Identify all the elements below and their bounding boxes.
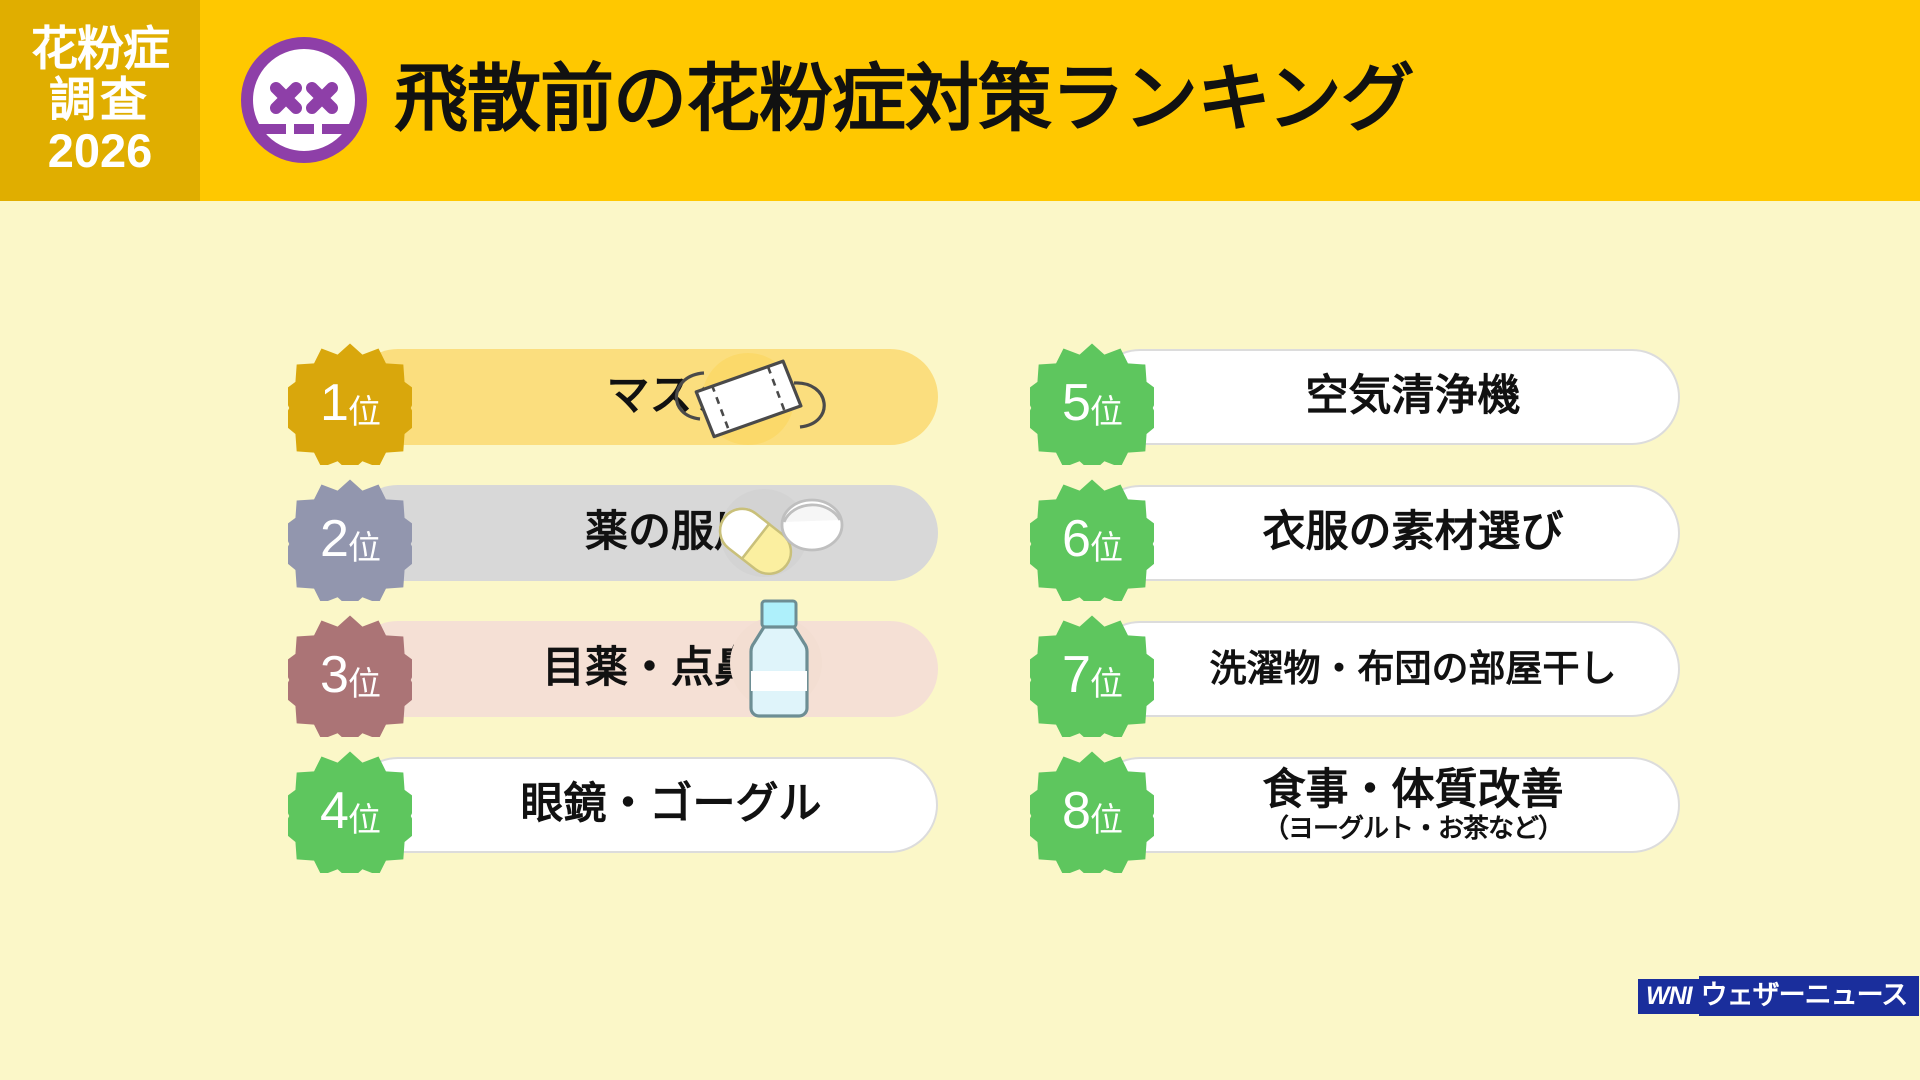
rank-badge-2: 2位	[288, 477, 412, 601]
rank-suffix-1: 位	[348, 373, 380, 433]
rank-label-7: 洗濯物・布団の部屋干し	[1094, 650, 1678, 688]
rank-pill-8[interactable]: 食事・体質改善 （ヨーグルト・お茶など）	[1092, 757, 1680, 853]
wni-logo-mark: WNI	[1638, 979, 1699, 1014]
rank-badge-7: 7位	[1030, 613, 1154, 737]
rank-title-1: マスク	[607, 375, 736, 419]
rank-label-8: 食事・体質改善 （ヨーグルト・お茶など）	[1094, 769, 1678, 841]
rank-suffix-3: 位	[348, 645, 380, 705]
rank-label-3: 目薬・点鼻薬	[350, 647, 938, 691]
rank-number-5: 5	[1062, 373, 1090, 433]
rank-pill-5[interactable]: 空気清浄機	[1092, 349, 1680, 445]
rank-badge-8: 8位	[1030, 749, 1154, 873]
rank-badge-6: 6位	[1030, 477, 1154, 601]
rank-badge-3: 3位	[288, 613, 412, 737]
page-header: 花粉症 調査 2026 飛散前の花粉症対策ランキング	[0, 0, 1920, 201]
rank-suffix-7: 位	[1090, 645, 1122, 705]
rank-pill-6[interactable]: 衣服の素材選び	[1092, 485, 1680, 581]
rank-suffix-6: 位	[1090, 509, 1122, 569]
rank-title-2: 薬の服用	[585, 511, 757, 555]
rank-badge-text-2: 2位	[288, 477, 412, 601]
survey-badge-line1: 花粉症	[31, 24, 169, 75]
rank-badge-text-6: 6位	[1030, 477, 1154, 601]
rank-badge-text-5: 5位	[1030, 341, 1154, 465]
rank-title-8: 食事・体質改善	[1263, 769, 1564, 813]
ranking-board: マスク	[0, 201, 1920, 1080]
rank-title-6: 衣服の素材選び	[1263, 511, 1564, 555]
rank-pill-3[interactable]: 目薬・点鼻薬	[350, 621, 938, 717]
rank-pill-2[interactable]: 薬の服用	[350, 485, 938, 581]
rank-badge-1: 1位	[288, 341, 412, 465]
rank-badge-text-3: 3位	[288, 613, 412, 737]
rank-number-4: 4	[320, 781, 348, 841]
rank-number-3: 3	[320, 645, 348, 705]
rank-title-7: 洗濯物・布団の部屋干し	[1210, 650, 1617, 688]
rank-label-2: 薬の服用	[350, 511, 938, 555]
weathernews-logo: WNI ウェザーニュース	[1638, 974, 1919, 1018]
page-title: 飛散前の花粉症対策ランキング	[394, 31, 1414, 167]
rank-title-3: 目薬・点鼻薬	[542, 647, 800, 691]
rank-subtitle-8: （ヨーグルト・お茶など）	[1263, 815, 1563, 842]
weathernews-logo-text: ウェザーニュース	[1699, 976, 1920, 1016]
rank-title-4: 眼鏡・ゴーグル	[521, 783, 822, 827]
x-eyes-face-icon	[236, 32, 372, 168]
rank-number-2: 2	[320, 509, 348, 569]
rank-badge-4: 4位	[288, 749, 412, 873]
rank-badge-text-8: 8位	[1030, 749, 1154, 873]
rank-number-6: 6	[1062, 509, 1090, 569]
rank-suffix-2: 位	[348, 509, 380, 569]
rank-number-8: 8	[1062, 781, 1090, 841]
survey-badge-line2: 調査	[49, 75, 151, 126]
rank-label-1: マスク	[350, 375, 938, 419]
rank-label-6: 衣服の素材選び	[1094, 511, 1678, 555]
rank-number-7: 7	[1062, 645, 1090, 705]
rank-label-4: 眼鏡・ゴーグル	[352, 783, 936, 827]
rank-suffix-4: 位	[348, 781, 380, 841]
rank-title-5: 空気清浄機	[1306, 375, 1521, 419]
rank-pill-4[interactable]: 眼鏡・ゴーグル	[350, 757, 938, 853]
rank-badge-text-4: 4位	[288, 749, 412, 873]
rank-badge-5: 5位	[1030, 341, 1154, 465]
rank-badge-text-1: 1位	[288, 341, 412, 465]
rank-pill-7[interactable]: 洗濯物・布団の部屋干し	[1092, 621, 1680, 717]
survey-year-badge: 花粉症 調査 2026	[0, 0, 200, 201]
survey-badge-line3: 2026	[48, 126, 153, 177]
rank-number-1: 1	[320, 373, 348, 433]
rank-pill-1[interactable]: マスク	[350, 349, 938, 445]
rank-suffix-5: 位	[1090, 373, 1122, 433]
rank-badge-text-7: 7位	[1030, 613, 1154, 737]
rank-label-5: 空気清浄機	[1094, 375, 1678, 419]
rank-suffix-8: 位	[1090, 781, 1122, 841]
